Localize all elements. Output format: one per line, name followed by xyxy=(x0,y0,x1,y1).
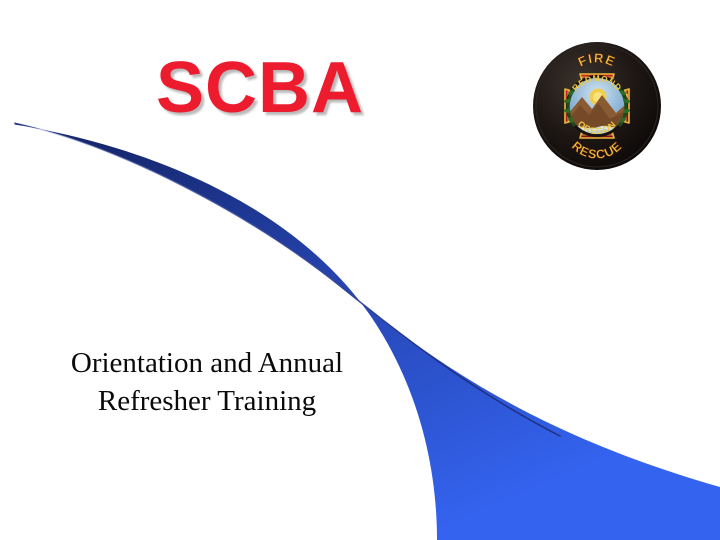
subtitle-line-2: Refresher Training xyxy=(24,382,390,420)
page-title: SCBA xyxy=(0,52,520,124)
swoosh-body xyxy=(15,123,720,540)
redmond-fire-rescue-badge-icon: FIRE RESCUE xyxy=(532,41,662,171)
subtitle-line-1: Orientation and Annual xyxy=(24,344,390,382)
slide-subtitle: Orientation and Annual Refresher Trainin… xyxy=(24,344,390,421)
presentation-slide: SCBA Orientation and Annual Refresher Tr… xyxy=(0,0,720,540)
